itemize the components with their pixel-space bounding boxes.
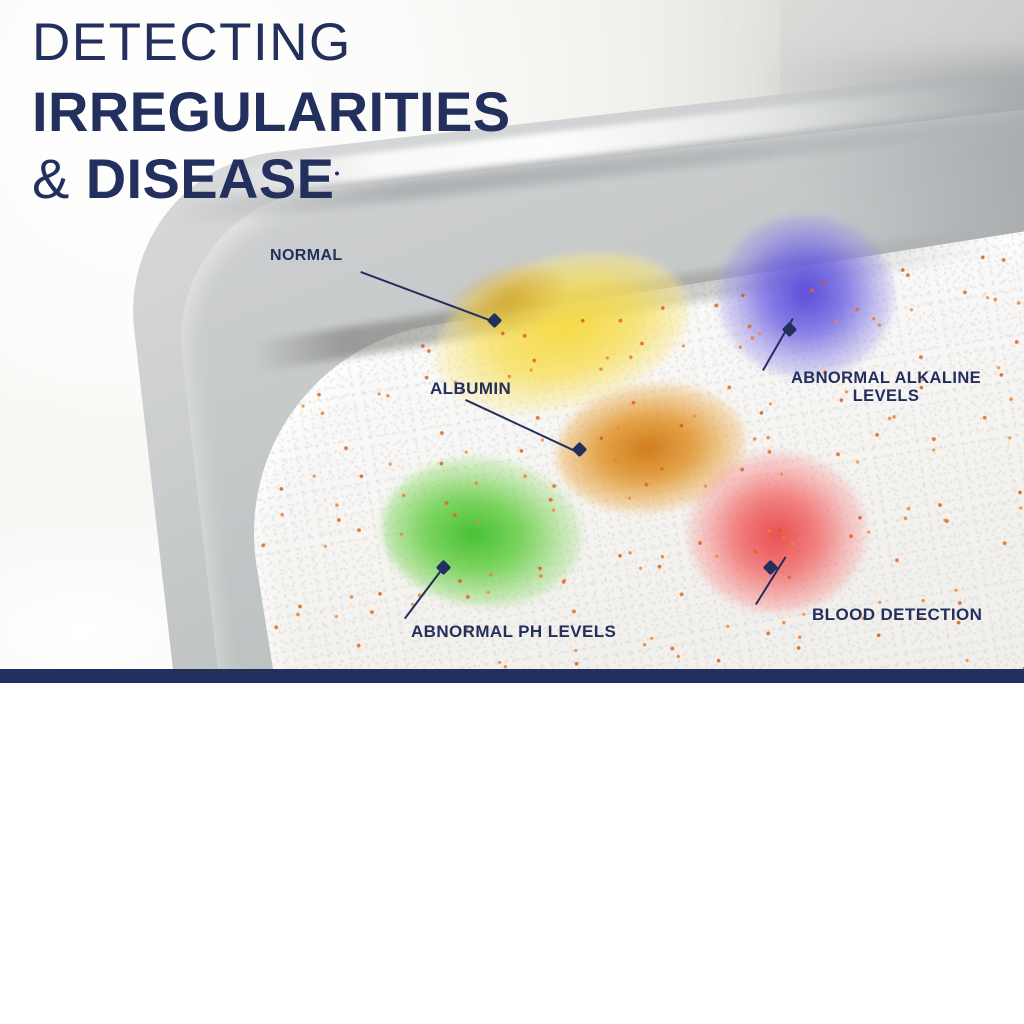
callout-ph: ABNORMAL PH LEVELS xyxy=(411,622,616,641)
callout-albumin: ALBUMIN xyxy=(430,379,511,398)
color-scale-legend: Normal Colors Go Visit The Vet *Colors m… xyxy=(0,683,1024,1024)
divider-band xyxy=(0,669,1024,683)
infographic-page: NORMAL ALBUMIN ABNORMAL ALKALINE LEVELS … xyxy=(0,0,1024,1024)
page-title: DETECTING IRREGULARITIES & DISEASE• xyxy=(32,16,511,209)
title-superscript: • xyxy=(334,165,340,182)
callout-normal: NORMAL xyxy=(270,247,343,265)
title-line-3: & DISEASE• xyxy=(32,149,511,209)
callout-blood: BLOOD DETECTION xyxy=(812,605,982,624)
title-line-1: DETECTING xyxy=(32,16,511,70)
title-disease: DISEASE xyxy=(86,147,335,210)
title-line-2: IRREGULARITIES xyxy=(32,82,511,142)
title-ampersand: & xyxy=(32,147,86,210)
callout-alkaline: ABNORMAL ALKALINE LEVELS xyxy=(779,369,993,406)
